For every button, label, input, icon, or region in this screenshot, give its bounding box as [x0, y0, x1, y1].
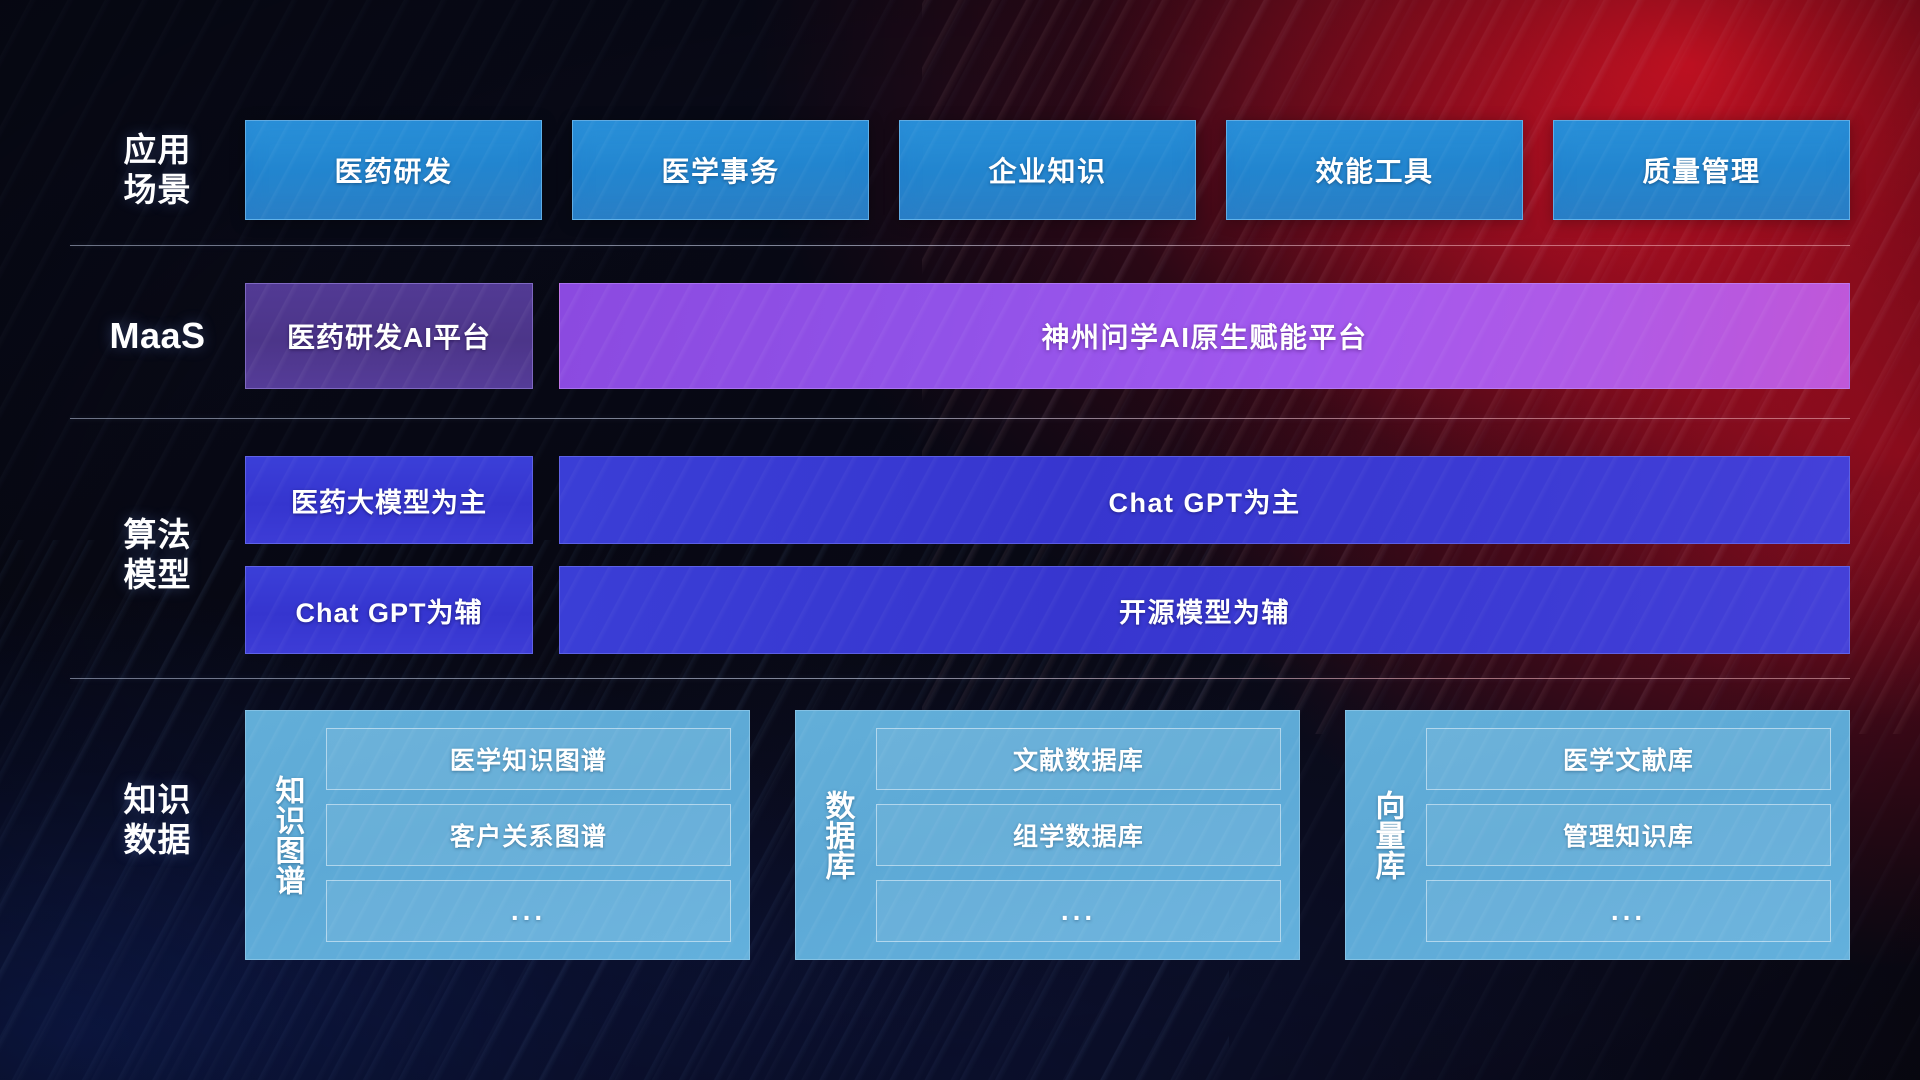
application-card-label: 医药研发 — [334, 150, 452, 190]
divider-maas-algorithm — [70, 418, 1850, 419]
knowledge-item-more[interactable]: ... — [326, 880, 731, 942]
architecture-diagram: 应用 场景 医药研发 医学事务 企业知识 效能工具 质量管理 MaaS 医药研发… — [0, 0, 1920, 1080]
knowledge-item-omics-database[interactable]: 组学数据库 — [876, 804, 1281, 866]
algorithm-card-pharma-llm-primary[interactable]: 医药大模型为主 — [245, 456, 533, 544]
knowledge-panel-database: 数据库 文献数据库 组学数据库 ... — [795, 710, 1300, 960]
algorithm-card-opensource-secondary[interactable]: 开源模型为辅 — [559, 566, 1850, 654]
knowledge-item-list: 文献数据库 组学数据库 ... — [876, 728, 1281, 942]
knowledge-item-label: ... — [1611, 895, 1646, 927]
knowledge-item-label: 客户关系图谱 — [450, 817, 607, 853]
knowledge-item-more[interactable]: ... — [876, 880, 1281, 942]
application-card-efficiency-tools[interactable]: 效能工具 — [1226, 120, 1523, 220]
knowledge-item-label: 管理知识库 — [1563, 817, 1694, 853]
row-algorithm-models: 算法 模型 医药大模型为主 Chat GPT为主 Chat GPT为辅 开源模型… — [70, 455, 1850, 655]
knowledge-item-medical-literature-store[interactable]: 医学文献库 — [1426, 728, 1831, 790]
row-label-application-scenarios: 应用 场景 — [70, 130, 245, 211]
knowledge-grid: 知识图谱 医学知识图谱 客户关系图谱 ... 数据库 文献数据库 组学数据库 — [245, 710, 1850, 960]
row-label-knowledge-data: 知识 数据 — [70, 780, 245, 861]
row-knowledge-data: 知识 数据 知识图谱 医学知识图谱 客户关系图谱 ... 数据库 — [70, 710, 1850, 960]
knowledge-item-label: 医学文献库 — [1563, 741, 1694, 777]
knowledge-item-literature-database[interactable]: 文献数据库 — [876, 728, 1281, 790]
application-card-label: 质量管理 — [1642, 150, 1760, 190]
application-card-medical-affairs[interactable]: 医学事务 — [572, 120, 869, 220]
maas-card-label: 神州问学AI原生赋能平台 — [1041, 316, 1367, 356]
application-card-pharma-rd[interactable]: 医药研发 — [245, 120, 542, 220]
knowledge-item-customer-relation-graph[interactable]: 客户关系图谱 — [326, 804, 731, 866]
algorithm-container: 医药大模型为主 Chat GPT为主 Chat GPT为辅 开源模型为辅 — [245, 456, 1850, 654]
knowledge-panel-vector-store: 向量库 医学文献库 管理知识库 ... — [1345, 710, 1850, 960]
algorithm-card-label: Chat GPT为主 — [1108, 481, 1300, 520]
knowledge-item-more[interactable]: ... — [1426, 880, 1831, 942]
knowledge-item-label: ... — [511, 895, 546, 927]
knowledge-item-label: 医学知识图谱 — [450, 741, 607, 777]
application-card-label: 企业知识 — [988, 150, 1106, 190]
application-card-label: 效能工具 — [1315, 150, 1433, 190]
knowledge-item-management-knowledge-store[interactable]: 管理知识库 — [1426, 804, 1831, 866]
algorithm-row-primary: 医药大模型为主 Chat GPT为主 — [245, 456, 1850, 544]
knowledge-panel-title: 向量库 — [1362, 728, 1412, 942]
knowledge-container: 知识图谱 医学知识图谱 客户关系图谱 ... 数据库 文献数据库 组学数据库 — [245, 710, 1850, 960]
maas-grid: 医药研发AI平台 神州问学AI原生赋能平台 — [245, 283, 1850, 389]
maas-card-pharma-ai-platform[interactable]: 医药研发AI平台 — [245, 283, 533, 389]
row-application-scenarios: 应用 场景 医药研发 医学事务 企业知识 效能工具 质量管理 — [70, 115, 1850, 225]
divider-applications-maas — [70, 245, 1850, 246]
knowledge-item-list: 医学文献库 管理知识库 ... — [1426, 728, 1831, 942]
application-card-enterprise-knowledge[interactable]: 企业知识 — [899, 120, 1196, 220]
row-label-algorithm-models: 算法 模型 — [70, 515, 245, 596]
knowledge-panel-title: 知识图谱 — [262, 728, 312, 942]
knowledge-panel-knowledge-graph: 知识图谱 医学知识图谱 客户关系图谱 ... — [245, 710, 750, 960]
application-grid: 医药研发 医学事务 企业知识 效能工具 质量管理 — [245, 120, 1850, 220]
algorithm-card-label: Chat GPT为辅 — [295, 591, 482, 630]
application-cards-container: 医药研发 医学事务 企业知识 效能工具 质量管理 — [245, 120, 1850, 220]
row-label-maas: MaaS — [70, 314, 245, 358]
algorithm-row-secondary: Chat GPT为辅 开源模型为辅 — [245, 566, 1850, 654]
application-card-quality-management[interactable]: 质量管理 — [1553, 120, 1850, 220]
application-card-label: 医学事务 — [661, 150, 779, 190]
divider-algorithm-knowledge — [70, 678, 1850, 679]
algorithm-card-chatgpt-primary[interactable]: Chat GPT为主 — [559, 456, 1850, 544]
algorithm-card-label: 医药大模型为主 — [291, 481, 487, 520]
maas-card-label: 医药研发AI平台 — [287, 316, 491, 356]
row-maas: MaaS 医药研发AI平台 神州问学AI原生赋能平台 — [70, 280, 1850, 392]
knowledge-item-label: ... — [1061, 895, 1096, 927]
knowledge-item-label: 文献数据库 — [1013, 741, 1144, 777]
algorithm-card-chatgpt-secondary[interactable]: Chat GPT为辅 — [245, 566, 533, 654]
knowledge-item-list: 医学知识图谱 客户关系图谱 ... — [326, 728, 731, 942]
knowledge-item-label: 组学数据库 — [1013, 817, 1144, 853]
algorithm-card-label: 开源模型为辅 — [1119, 591, 1290, 630]
maas-card-shenzhou-wenxue-platform[interactable]: 神州问学AI原生赋能平台 — [559, 283, 1850, 389]
algorithm-stack: 医药大模型为主 Chat GPT为主 Chat GPT为辅 开源模型为辅 — [245, 456, 1850, 654]
maas-container: 医药研发AI平台 神州问学AI原生赋能平台 — [245, 283, 1850, 389]
knowledge-item-medical-knowledge-graph[interactable]: 医学知识图谱 — [326, 728, 731, 790]
knowledge-panel-title: 数据库 — [812, 728, 862, 942]
